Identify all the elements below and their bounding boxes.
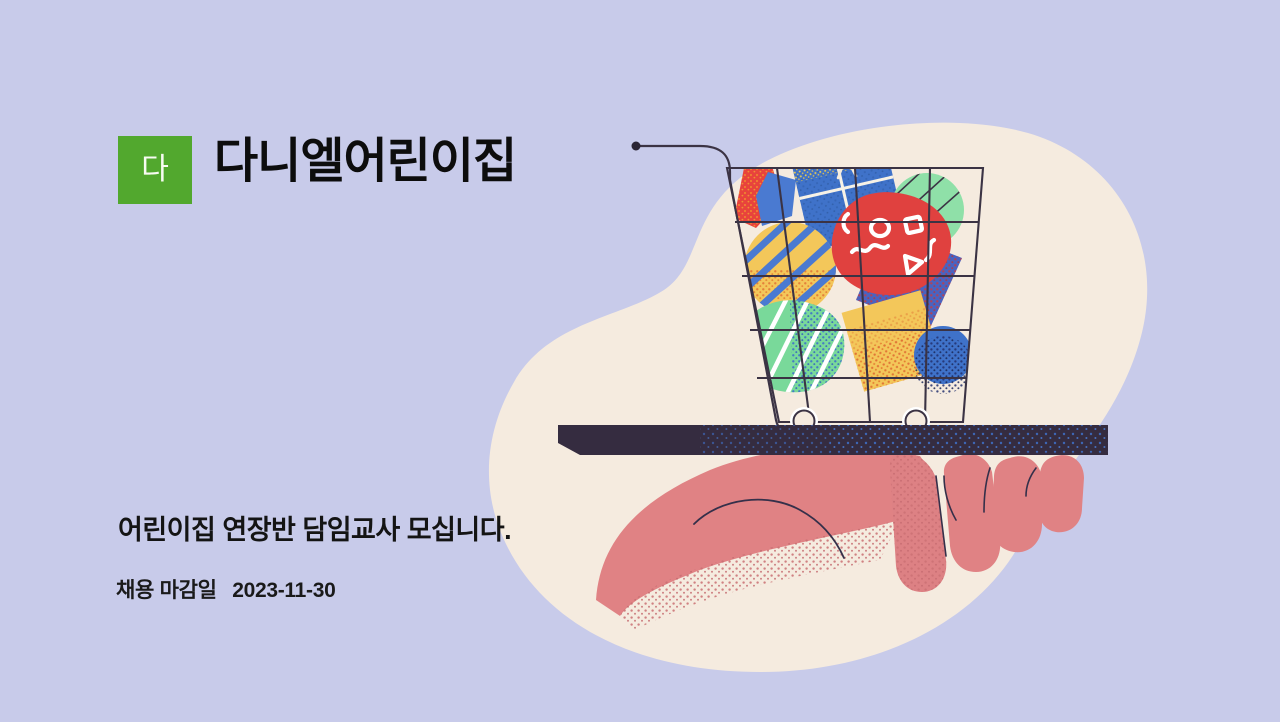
item-blue-circle — [914, 326, 972, 394]
job-posting-banner: 다 다니엘어린이집 어린이집 연장반 담임교사 모십니다. 채용 마감일 202… — [0, 0, 1280, 722]
deadline-row: 채용 마감일 2023-11-30 — [116, 574, 335, 604]
job-title: 어린이집 연장반 담임교사 모십니다. — [118, 508, 511, 547]
cart-handle-cap — [632, 142, 641, 151]
deadline-date: 2023-11-30 — [232, 579, 335, 602]
company-logo-badge: 다 — [118, 136, 192, 204]
dark-shelf-bar — [558, 425, 1108, 455]
company-name: 다니엘어린이집 — [214, 130, 516, 195]
illustration-shopping-cart — [0, 0, 1280, 722]
deadline-label: 채용 마감일 — [116, 579, 217, 602]
